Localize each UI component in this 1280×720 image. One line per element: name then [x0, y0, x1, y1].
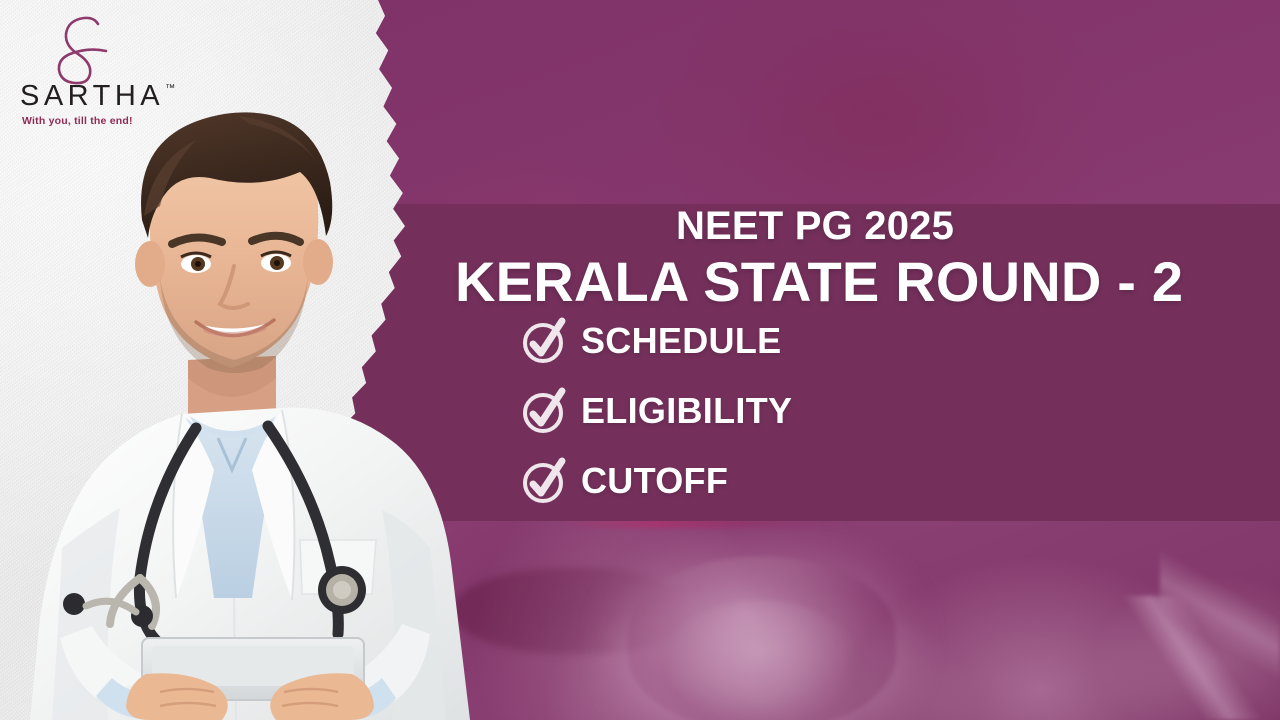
list-item-label: CUTOFF	[581, 463, 728, 499]
list-item: SCHEDULE	[521, 318, 792, 364]
stethoscope-bell-inner-blur	[660, 600, 860, 720]
sartha-s-monogram-icon	[44, 14, 122, 86]
check-circle-icon	[521, 388, 567, 434]
brand-wordmark-row: SARTHA ™	[20, 82, 188, 111]
check-circle-icon	[521, 318, 567, 364]
brand-logo: SARTHA ™ With you, till the end!	[18, 14, 188, 127]
list-item-label: SCHEDULE	[581, 323, 781, 359]
trademark-symbol: ™	[165, 84, 175, 94]
doctor-photo	[0, 78, 500, 720]
poster-canvas: SARTHA ™ With you, till the end! NEET PG…	[0, 0, 1280, 720]
brand-wordmark: SARTHA	[20, 82, 164, 111]
list-item: CUTOFF	[521, 458, 792, 504]
list-item: ELIGIBILITY	[521, 388, 792, 434]
list-item-label: ELIGIBILITY	[581, 393, 792, 429]
check-circle-icon	[521, 458, 567, 504]
exam-kicker: NEET PG 2025	[455, 206, 1175, 246]
headline-block: NEET PG 2025 KERALA STATE ROUND - 2	[455, 206, 1175, 311]
brand-tagline: With you, till the end!	[22, 116, 188, 127]
page-title: KERALA STATE ROUND - 2	[455, 252, 1175, 311]
feature-checklist: SCHEDULE ELIGIBILITY CUTOFF	[521, 318, 792, 504]
glass-rod-secondary-blur	[1160, 520, 1280, 720]
